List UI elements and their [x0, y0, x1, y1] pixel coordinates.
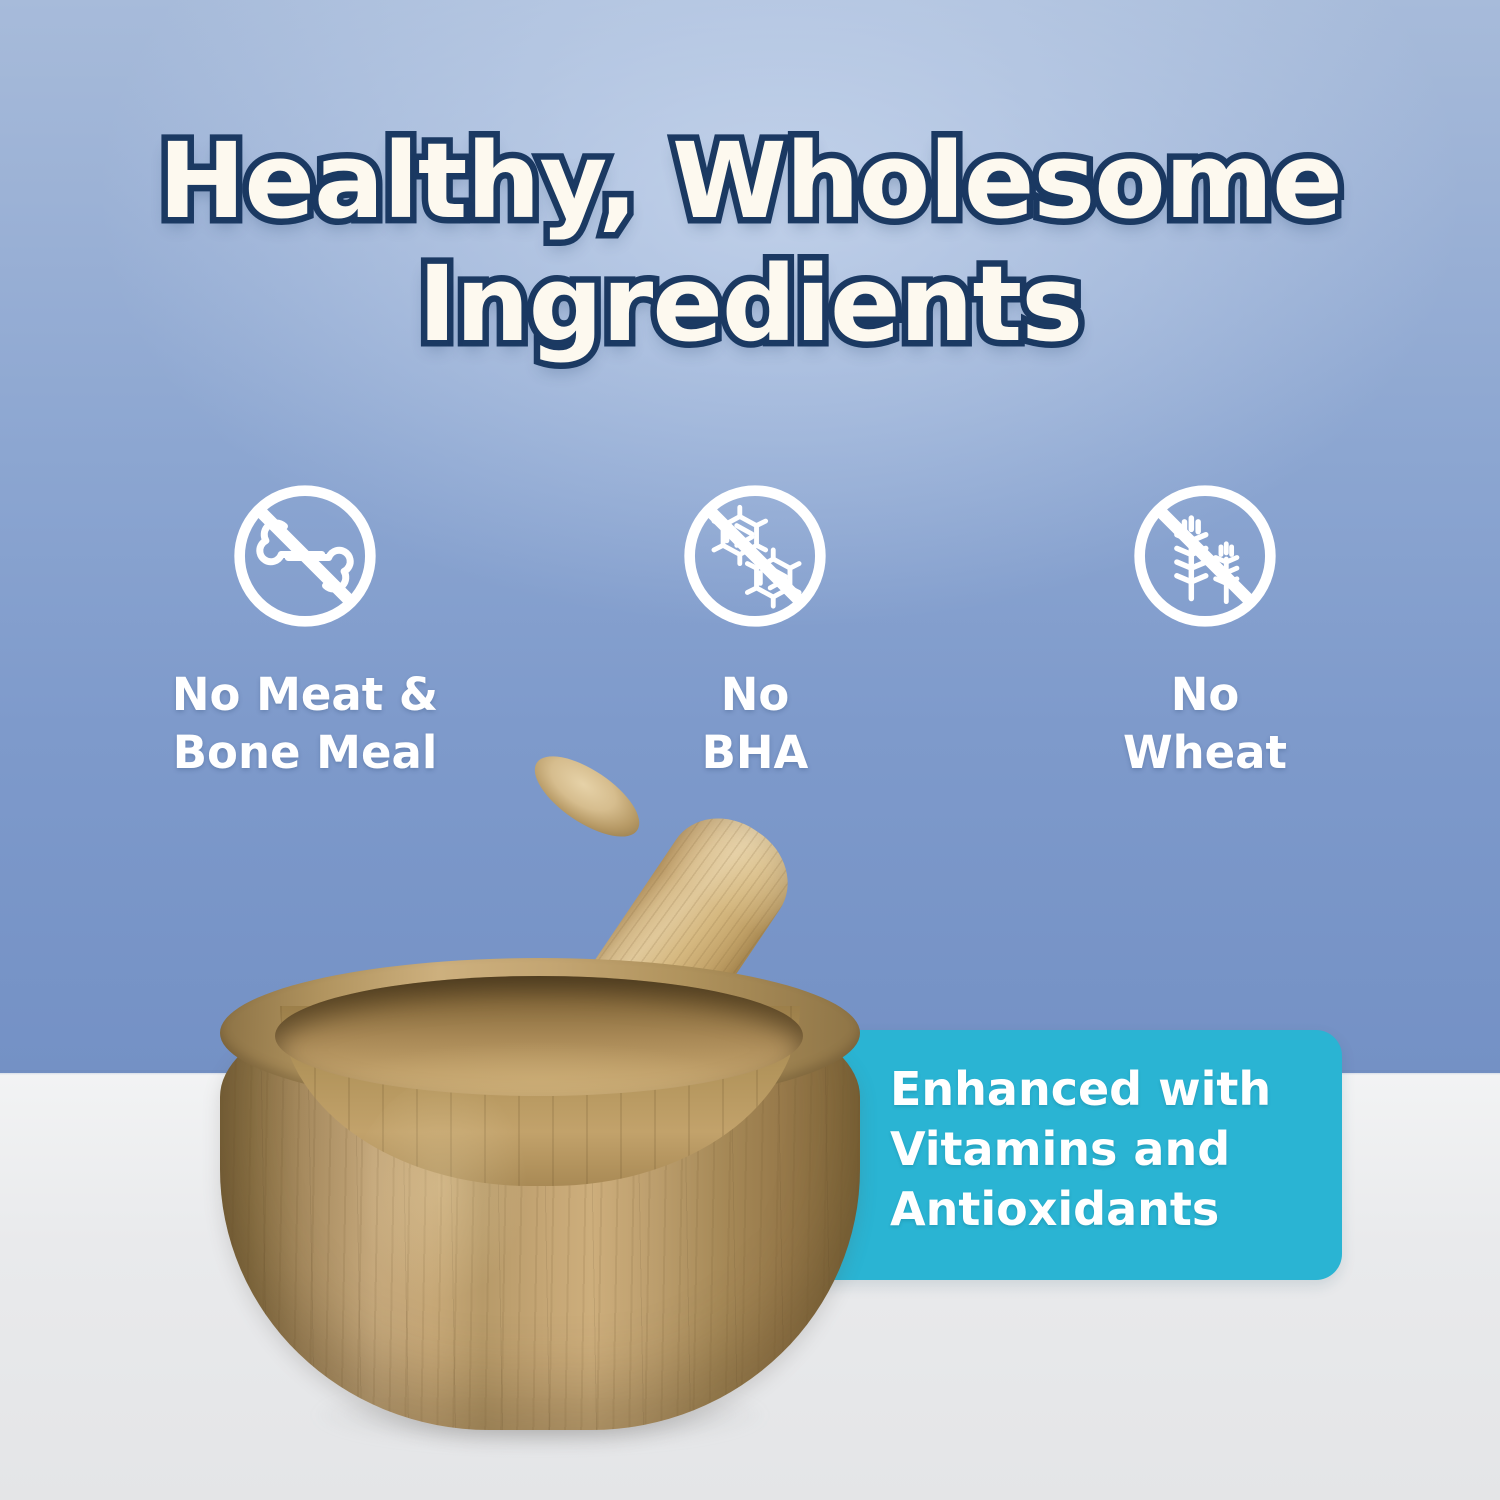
feature-no-meat-bone-meal: No Meat & Bone Meal: [95, 480, 515, 781]
page-title-line-2: Ingredients: [0, 243, 1500, 366]
no-wheat-icon: [1129, 480, 1281, 632]
feature-label: No Wheat: [1123, 666, 1287, 781]
wooden-mortar-and-pestle: [180, 770, 900, 1470]
promo-banner: Healthy, Wholesome Ingredients No Meat &…: [0, 0, 1500, 1500]
mortar-rim-inner: [275, 976, 803, 1096]
callout-text: Enhanced with Vitamins and Antioxidants: [890, 1060, 1330, 1239]
no-bone-meal-icon: [229, 480, 381, 632]
feature-label: No BHA: [702, 666, 809, 781]
page-title-line-1: Healthy, Wholesome: [0, 120, 1500, 243]
feature-no-wheat: No Wheat: [995, 480, 1415, 781]
no-bha-molecule-icon: [679, 480, 831, 632]
feature-label: No Meat & Bone Meal: [172, 666, 438, 781]
page-title: Healthy, Wholesome Ingredients: [0, 120, 1500, 365]
feature-list: No Meat & Bone Meal: [95, 480, 1415, 781]
feature-no-bha: No BHA: [545, 480, 965, 781]
